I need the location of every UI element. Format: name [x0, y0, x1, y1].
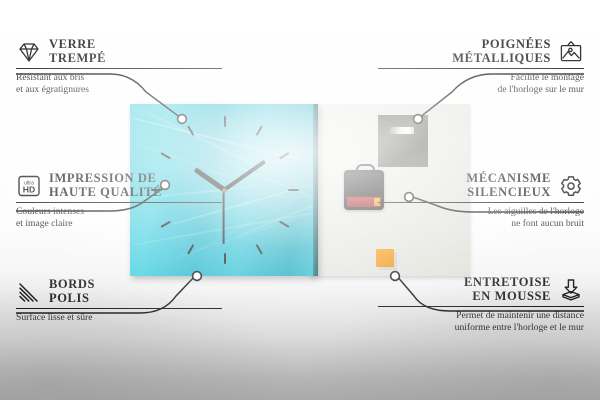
gear-icon [558, 174, 584, 198]
hour-marker [224, 253, 226, 264]
diamond-icon [16, 40, 42, 64]
feature-title-line1: IMPRESSION DE [49, 172, 162, 186]
feature-rule [378, 202, 584, 203]
battery [347, 197, 381, 207]
glass-edge [313, 104, 318, 276]
feature-header: BORDS POLIS [16, 278, 222, 305]
feature-desc-line1: Permet de maintenir une distance [378, 310, 584, 321]
feature-description: Les aiguilles de l'horloge ne font aucun… [378, 206, 584, 229]
feature-title-line1: BORDS [49, 278, 95, 292]
feature-title-line1: ENTRETOISE [464, 276, 551, 290]
hour-marker [160, 152, 171, 159]
feature-rule [378, 68, 584, 69]
hour-marker [288, 189, 299, 191]
hanger-slot [390, 127, 414, 134]
hour-marker [187, 244, 194, 255]
clock-hand-minute [223, 160, 266, 192]
hatch-edge-icon [16, 280, 42, 304]
feature-title: ENTRETOISE EN MOUSSE [464, 276, 551, 303]
movement-body [347, 173, 381, 195]
hour-marker [279, 221, 290, 228]
feature-desc-line2: et image claire [16, 218, 222, 229]
feature-rule [16, 202, 222, 203]
feature-header: ENTRETOISE EN MOUSSE [378, 276, 584, 303]
feature-desc-line1: Surface lisse et sûre [16, 312, 222, 323]
feature-bords-polis: BORDS POLIS Surface lisse et sûre [16, 278, 222, 324]
feature-description: Surface lisse et sûre [16, 312, 222, 323]
hour-marker [279, 152, 290, 159]
feature-desc-line1: Facilite le montage [378, 72, 584, 83]
metal-hanger-plate [378, 115, 428, 167]
feature-title: IMPRESSION DE HAUTE QUALITÉ [49, 172, 162, 199]
feature-mecanisme-silencieux: MÉCANISME SILENCIEUX Les aiguilles de l'… [378, 172, 584, 229]
feature-title-line1: MÉCANISME [466, 172, 551, 186]
feature-poignees-metalliques: POIGNÉES MÉTALLIQUES Facilite le montage… [378, 38, 584, 95]
feature-title-line2: SILENCIEUX [466, 186, 551, 200]
feature-title: POIGNÉES MÉTALLIQUES [452, 38, 551, 65]
feature-desc-line2: et aux égratignures [16, 84, 222, 95]
clock-center-cap [222, 188, 227, 193]
feature-title-line2: EN MOUSSE [464, 290, 551, 304]
arrow-onto-pad-icon [558, 278, 584, 302]
clock-hand-second [223, 190, 225, 244]
feature-title: BORDS POLIS [49, 278, 95, 305]
feature-title: VERRE TREMPÉ [49, 38, 106, 65]
feature-description: Couleurs intenses et image claire [16, 206, 222, 229]
feature-rule [16, 308, 222, 309]
feature-header: VERRE TREMPÉ [16, 38, 222, 65]
feature-title-line1: POIGNÉES [452, 38, 551, 52]
feature-header: MÉCANISME SILENCIEUX [378, 172, 584, 199]
feature-verre-trempe: VERRE TREMPÉ Résistant aux bris et aux é… [16, 38, 222, 95]
hanging-picture-frame-icon [558, 40, 584, 64]
feature-description: Facilite le montage de l'horloge sur le … [378, 72, 584, 95]
feature-title-line2: HAUTE QUALITÉ [49, 186, 162, 200]
hour-marker [187, 125, 194, 136]
feature-title-line2: POLIS [49, 292, 95, 306]
feature-header: ultra HD IMPRESSION DE HAUTE QUALITÉ [16, 172, 222, 199]
feature-title-line2: MÉTALLIQUES [452, 52, 551, 66]
feature-rule [16, 68, 222, 69]
feature-rule [378, 306, 584, 307]
feature-header: POIGNÉES MÉTALLIQUES [378, 38, 584, 65]
hour-marker [256, 244, 263, 255]
feature-desc-line2: uniforme entre l'horloge et le mur [378, 322, 584, 333]
feature-desc-line1: Couleurs intenses [16, 206, 222, 217]
feature-desc-line1: Les aiguilles de l'horloge [378, 206, 584, 217]
feature-desc-line1: Résistant aux bris [16, 72, 222, 83]
hour-marker [224, 116, 226, 127]
feature-impression-haute-qualite: ultra HD IMPRESSION DE HAUTE QUALITÉ Cou… [16, 172, 222, 229]
feature-entretoise-en-mousse: ENTRETOISE EN MOUSSE Permet de maintenir… [378, 276, 584, 333]
feature-description: Permet de maintenir une distance uniform… [378, 310, 584, 333]
feature-title-line1: VERRE [49, 38, 106, 52]
foam-spacer [376, 249, 394, 267]
feature-title: MÉCANISME SILENCIEUX [466, 172, 551, 199]
hour-marker [256, 125, 263, 136]
ultra-hd-badge-icon: ultra HD [16, 174, 42, 198]
feature-desc-line2: ne font aucun bruit [378, 218, 584, 229]
ultra-hd-bottom-text: HD [23, 184, 35, 194]
feature-description: Résistant aux bris et aux égratignures [16, 72, 222, 95]
infographic-canvas: VERRE TREMPÉ Résistant aux bris et aux é… [0, 0, 600, 400]
feature-desc-line2: de l'horloge sur le mur [378, 84, 584, 95]
feature-title-line2: TREMPÉ [49, 52, 106, 66]
